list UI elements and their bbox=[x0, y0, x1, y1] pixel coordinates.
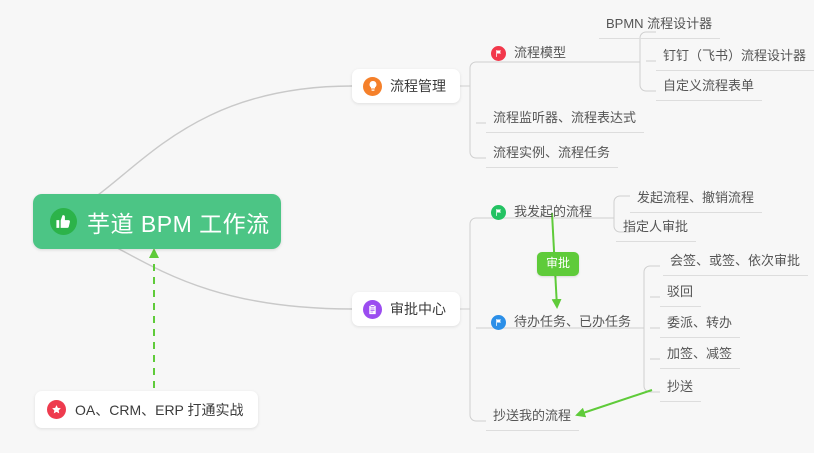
root-label: 芋道 BPM 工作流 bbox=[87, 205, 270, 239]
thumbs-up-icon bbox=[50, 208, 77, 235]
root-node[interactable]: 芋道 BPM 工作流 bbox=[33, 194, 281, 249]
node-label-reject: 驳回 bbox=[667, 284, 693, 299]
note-label: OA、CRM、ERP 打通实战 bbox=[75, 400, 244, 420]
note-node-integration-practice[interactable]: OA、CRM、ERP 打通实战 bbox=[35, 391, 258, 428]
flag-icon bbox=[491, 315, 506, 330]
node-label-countersign-orsign-sequential: 会签、或签、依次审批 bbox=[670, 253, 800, 268]
node-label-process-instance-task: 流程实例、流程任务 bbox=[493, 145, 610, 160]
branch-node-process-management[interactable]: 流程管理 bbox=[352, 69, 460, 103]
node-cc-to-me-process[interactable]: 抄送我的流程 bbox=[486, 404, 579, 431]
star-icon bbox=[47, 400, 66, 419]
node-label-cc-to-me-process: 抄送我的流程 bbox=[493, 408, 571, 423]
node-dingtalk-feishu-designer[interactable]: 钉钉（飞书）流程设计器 bbox=[656, 44, 814, 71]
node-label-add-remove-sign: 加签、减签 bbox=[667, 346, 732, 361]
node-label-todo-done-tasks: 待办任务、已办任务 bbox=[514, 313, 631, 331]
node-label-dingtalk-feishu-designer: 钉钉（飞书）流程设计器 bbox=[663, 48, 806, 63]
flag-icon bbox=[491, 205, 506, 220]
node-label-my-started-process: 我发起的流程 bbox=[514, 203, 592, 221]
node-label-delegate-transfer: 委派、转办 bbox=[667, 315, 732, 330]
node-bpmn-designer[interactable]: BPMN 流程设计器 bbox=[599, 12, 720, 39]
arrow-cc-to-ccmine bbox=[577, 390, 652, 415]
node-process-instance-task[interactable]: 流程实例、流程任务 bbox=[486, 141, 618, 168]
link-ac-bracket bbox=[470, 218, 476, 421]
node-label-custom-process-form: 自定义流程表单 bbox=[663, 78, 754, 93]
node-label-start-cancel-process: 发起流程、撤销流程 bbox=[637, 190, 754, 205]
node-process-listener-expression[interactable]: 流程监听器、流程表达式 bbox=[486, 106, 644, 133]
link-model-bracket bbox=[640, 32, 646, 91]
node-assignee-approval[interactable]: 指定人审批 bbox=[616, 215, 696, 242]
node-reject[interactable]: 驳回 bbox=[660, 280, 701, 307]
node-label-process-model: 流程模型 bbox=[514, 44, 566, 62]
node-label-process-listener-expression: 流程监听器、流程表达式 bbox=[493, 110, 636, 125]
node-my-started-process[interactable]: 我发起的流程 bbox=[491, 200, 600, 226]
node-custom-process-form[interactable]: 自定义流程表单 bbox=[656, 74, 762, 101]
node-label-assignee-approval: 指定人审批 bbox=[623, 219, 688, 234]
node-add-remove-sign[interactable]: 加签、减签 bbox=[660, 342, 740, 369]
node-label-bpmn-designer: BPMN 流程设计器 bbox=[606, 16, 712, 31]
node-todo-done-tasks[interactable]: 待办任务、已办任务 bbox=[491, 310, 639, 336]
branch-label-approval-center: 审批中心 bbox=[390, 299, 446, 319]
branch-label-process-management: 流程管理 bbox=[390, 76, 446, 96]
clipboard-icon bbox=[363, 300, 382, 319]
node-label-cc: 抄送 bbox=[667, 379, 693, 394]
node-process-model[interactable]: 流程模型 bbox=[491, 41, 574, 67]
lightbulb-icon bbox=[363, 77, 382, 96]
node-start-cancel-process[interactable]: 发起流程、撤销流程 bbox=[630, 186, 762, 213]
node-cc[interactable]: 抄送 bbox=[660, 375, 701, 402]
branch-node-approval-center[interactable]: 审批中心 bbox=[352, 292, 460, 326]
annotation-chip-approval[interactable]: 审批 bbox=[537, 252, 579, 276]
link-pm-bracket bbox=[470, 62, 476, 158]
node-countersign-orsign-sequential[interactable]: 会签、或签、依次审批 bbox=[663, 249, 808, 276]
link-todo-bracket bbox=[644, 266, 650, 392]
mindmap-canvas: 芋道 BPM 工作流 流程管理 流程模型 流程监听器、流程表达式 流程实例、流程… bbox=[0, 0, 814, 453]
flag-icon bbox=[491, 46, 506, 61]
node-delegate-transfer[interactable]: 委派、转办 bbox=[660, 311, 740, 338]
annotation-chip-label: 审批 bbox=[546, 256, 570, 270]
